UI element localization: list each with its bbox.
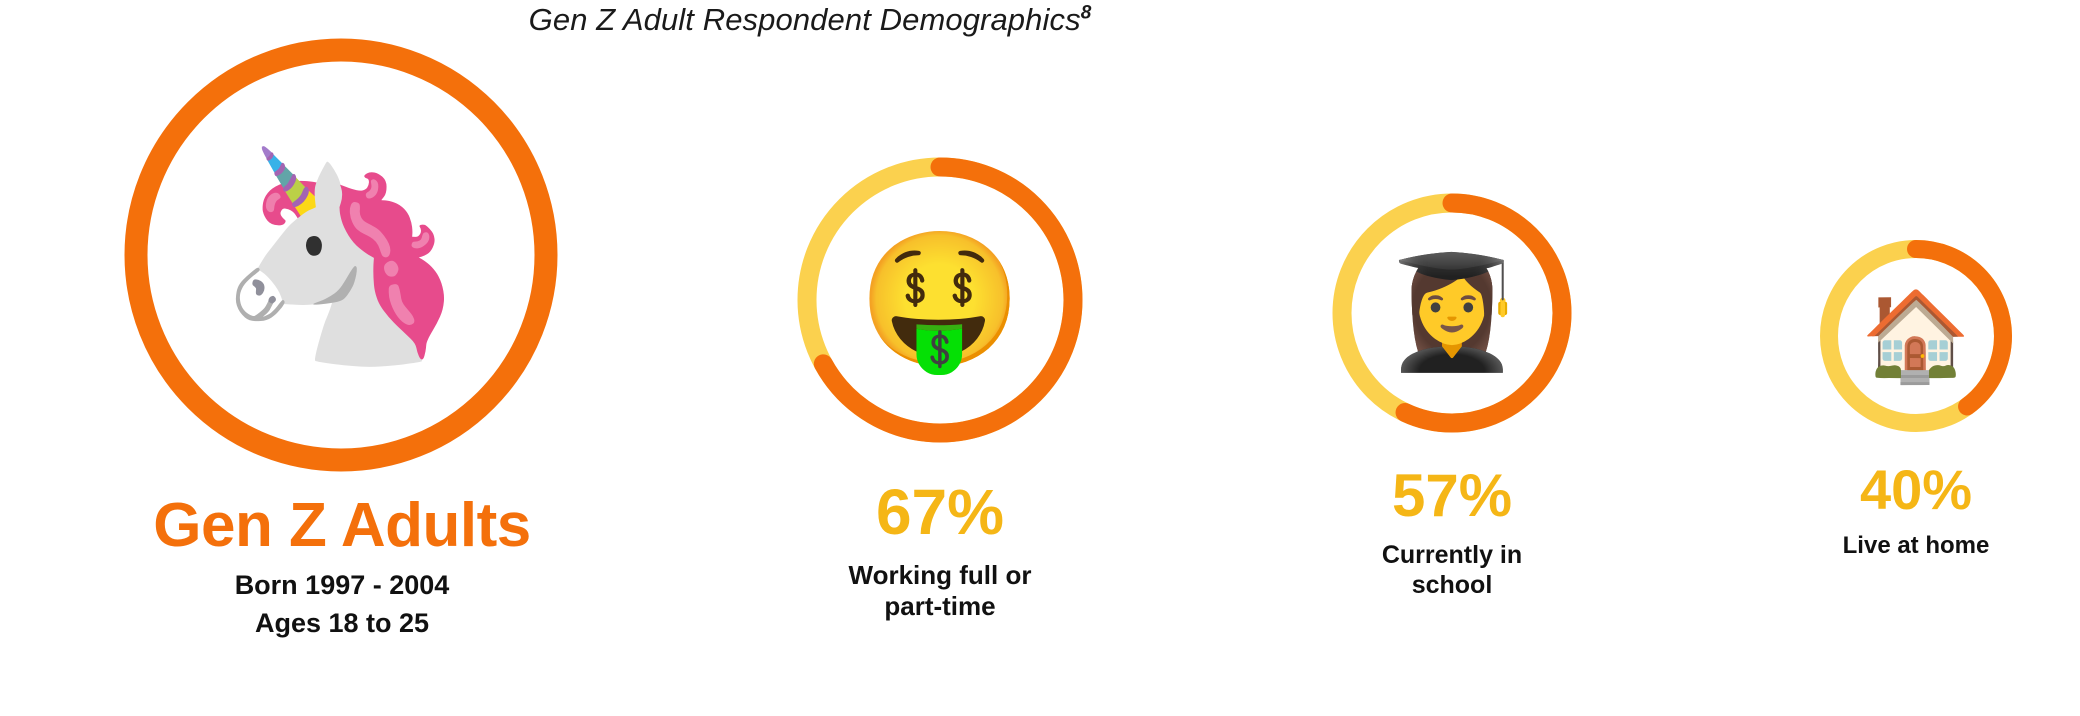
stat-caption-working: Working full or part-time — [726, 560, 1154, 621]
stat-caption-line2: school — [1248, 571, 1656, 601]
stat-caption-school: Currently in school — [1248, 541, 1656, 600]
hero-gen-z-adults: 🦄 Gen Z Adults Born 1997 - 2004 Ages 18 … — [88, 38, 596, 638]
donut-chart-working: 🤑 — [790, 150, 1090, 450]
page-title-text: Gen Z Adult Respondent Demographics — [529, 2, 1081, 37]
money-mouth-face-emoji: 🤑 — [790, 150, 1090, 450]
stat-caption-line1: Currently in — [1248, 541, 1656, 571]
footnote-marker: 8 — [1081, 3, 1092, 24]
hero-birth-years: Born 1997 - 2004 — [88, 570, 596, 601]
woman-student-emoji: 👩‍🎓 — [1327, 188, 1577, 438]
stat-percent-working: 67% — [726, 480, 1154, 544]
stat-caption-home: Live at home — [1716, 532, 2080, 560]
stat-percent-home: 40% — [1716, 462, 2080, 518]
donut-chart-home: 🏠 — [1816, 236, 2016, 436]
hero-title: Gen Z Adults — [88, 490, 596, 561]
stat-caption-line2: part-time — [726, 591, 1154, 622]
stat-caption-line1: Live at home — [1716, 532, 2080, 560]
unicorn-face-emoji: 🦄 — [124, 38, 558, 472]
stat-card-school: 👩‍🎓 57% Currently in school — [1248, 188, 1656, 600]
page-title: Gen Z Adult Respondent Demographics8 — [0, 2, 1850, 38]
stat-card-home: 🏠 40% Live at home — [1716, 236, 2080, 560]
infographic-canvas: Gen Z Adult Respondent Demographics8 🦄 G… — [0, 0, 2080, 716]
stat-percent-school: 57% — [1248, 466, 1656, 526]
donut-chart-school: 👩‍🎓 — [1327, 188, 1577, 438]
stat-caption-line1: Working full or — [726, 560, 1154, 591]
hero-age-range: Ages 18 to 25 — [88, 608, 596, 639]
stat-card-working: 🤑 67% Working full or part-time — [726, 150, 1154, 621]
house-emoji: 🏠 — [1816, 236, 2016, 436]
